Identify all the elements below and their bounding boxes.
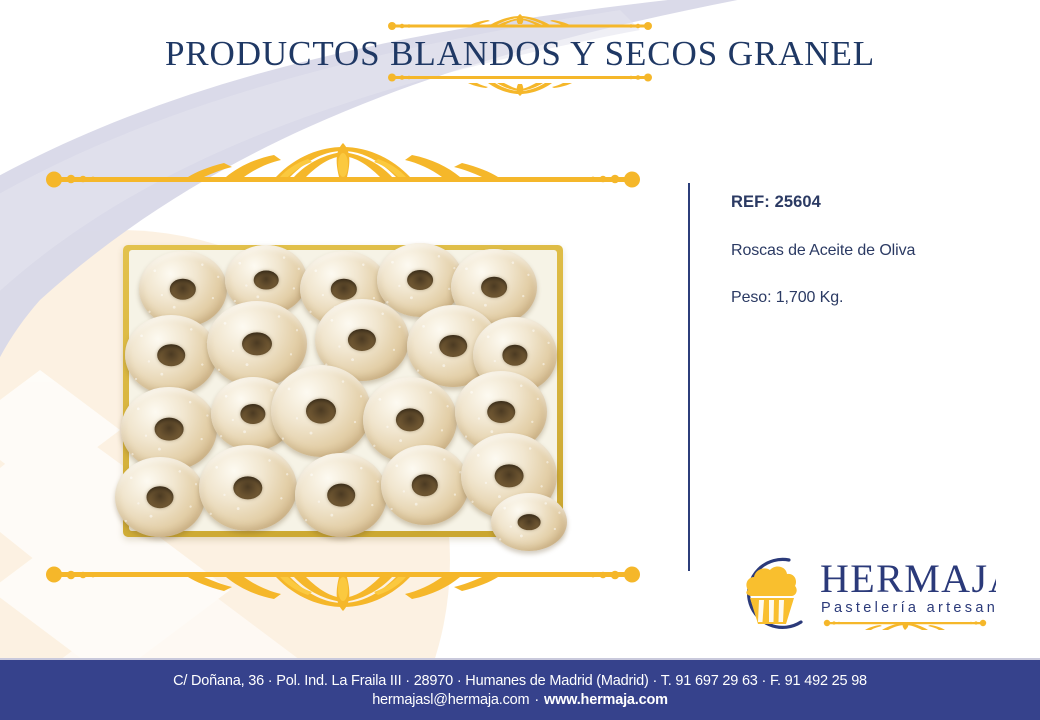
product-name: Roscas de Aceite de Oliva bbox=[731, 242, 1021, 260]
logo-ornament-icon bbox=[824, 620, 986, 630]
product-weight: Peso: 1,700 Kg. bbox=[731, 289, 1021, 307]
footer-email[interactable]: hermajasl@hermaja.com bbox=[372, 692, 529, 708]
footer-contact: hermajasl@hermaja.com · www.hermaja.com bbox=[372, 692, 668, 708]
logo-tagline-text: Pastelería artesana bbox=[821, 600, 996, 616]
donut-stack bbox=[115, 205, 572, 545]
product-info-panel: REF: 25604 Roscas de Aceite de Oliva Pes… bbox=[731, 193, 1021, 307]
vertical-divider bbox=[688, 183, 690, 571]
product-sheet-page: PRODUCTOS BLANDOS Y SECOS GRANEL bbox=[0, 0, 1040, 720]
ornament-rule-top-icon bbox=[38, 143, 648, 189]
donut-item bbox=[295, 453, 387, 537]
footer-separator: · bbox=[534, 692, 539, 708]
product-image bbox=[115, 205, 572, 545]
ornament-rule-bottom-icon bbox=[38, 565, 648, 611]
donut-item bbox=[115, 457, 205, 537]
donut-item bbox=[491, 493, 567, 551]
footer-website[interactable]: www.hermaja.com bbox=[544, 692, 668, 708]
donut-item bbox=[381, 445, 469, 525]
title-ornament-top-icon bbox=[370, 14, 670, 32]
donut-item bbox=[271, 365, 371, 457]
footer-bar: C/ Doñana, 36 · Pol. Ind. La Fraila III … bbox=[0, 658, 1040, 720]
page-title: PRODUCTOS BLANDOS Y SECOS GRANEL bbox=[0, 36, 1040, 71]
brand-logo: HERMAJA Pastelería artesana bbox=[726, 548, 996, 640]
donut-item bbox=[125, 315, 217, 395]
title-block: PRODUCTOS BLANDOS Y SECOS GRANEL bbox=[0, 14, 1040, 96]
product-ref: REF: 25604 bbox=[731, 193, 1021, 212]
footer-address: C/ Doñana, 36 · Pol. Ind. La Fraila III … bbox=[173, 673, 867, 689]
title-ornament-bottom-icon bbox=[370, 72, 670, 96]
logo-brand-text: HERMAJA bbox=[820, 556, 996, 601]
brand-logo-svg: HERMAJA Pastelería artesana bbox=[726, 548, 996, 640]
donut-item bbox=[199, 445, 297, 531]
